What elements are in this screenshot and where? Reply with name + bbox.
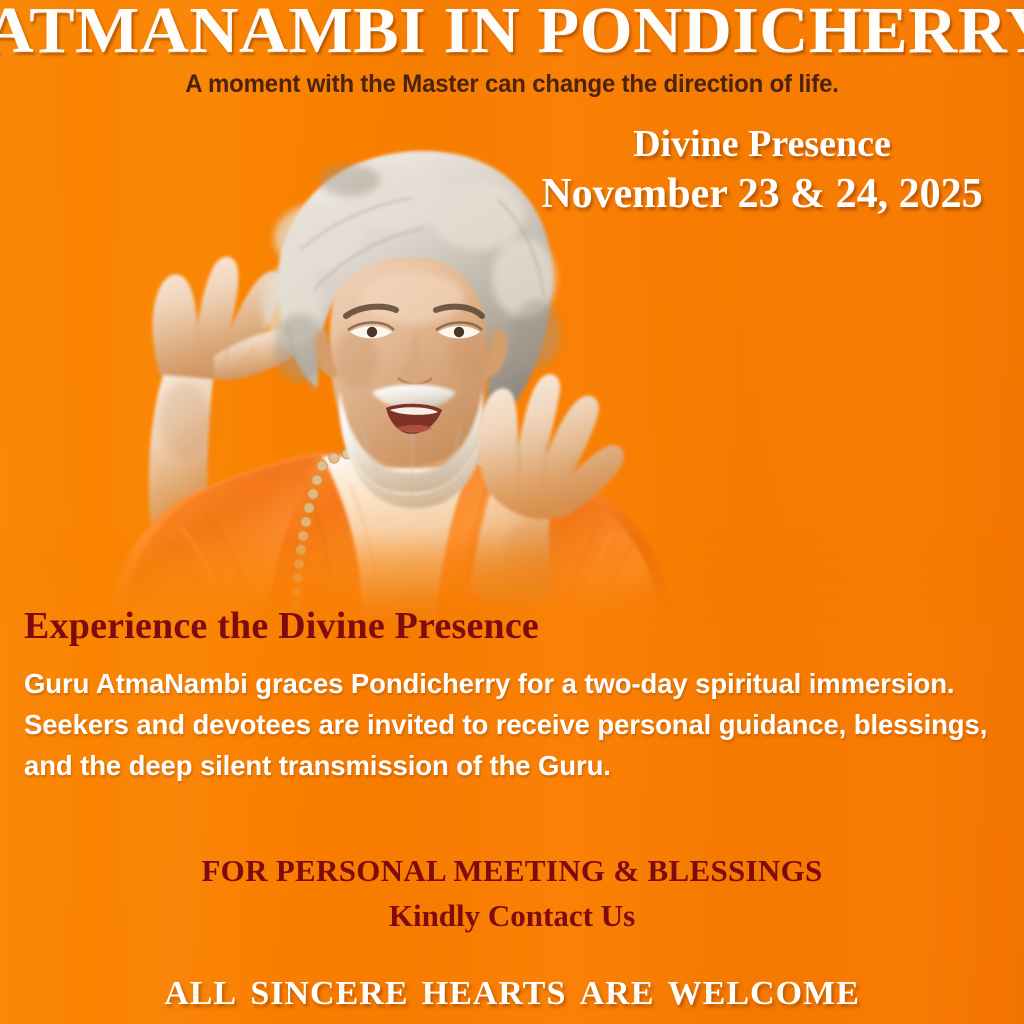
poster-tagline: A moment with the Master can change the … xyxy=(20,70,1003,99)
event-dates: November 23 & 24, 2025 xyxy=(522,169,1002,219)
section-paragraph: Guru AtmaNambi graces Pondicherry for a … xyxy=(24,663,1019,786)
bead-mala xyxy=(292,449,496,611)
poster-canvas: ATMANAMBI IN PONDICHERRY A moment with t… xyxy=(0,0,1024,1024)
paragraph-line-1: Guru AtmaNambi graces Pondicherry for a … xyxy=(24,663,1019,704)
page-title: ATMANAMBI IN PONDICHERRY xyxy=(0,0,1024,64)
paragraph-line-2: Seekers and devotees are invited to rece… xyxy=(24,704,1019,745)
contact-call-to-action: FOR PERSONAL MEETING & BLESSINGS Kindly … xyxy=(0,852,1024,936)
section-heading: Experience the Divine Presence xyxy=(24,604,539,648)
event-date-block: Divine Presence November 23 & 24, 2025 xyxy=(522,122,1002,219)
welcome-banner: All sincere hearts are welcome xyxy=(0,959,1024,1016)
contact-headline: FOR PERSONAL MEETING & BLESSINGS xyxy=(0,852,1024,890)
event-label: Divine Presence xyxy=(522,122,1002,167)
paragraph-line-3: and the deep silent transmission of the … xyxy=(24,745,1019,786)
contact-subline: Kindly Contact Us xyxy=(0,896,1024,936)
